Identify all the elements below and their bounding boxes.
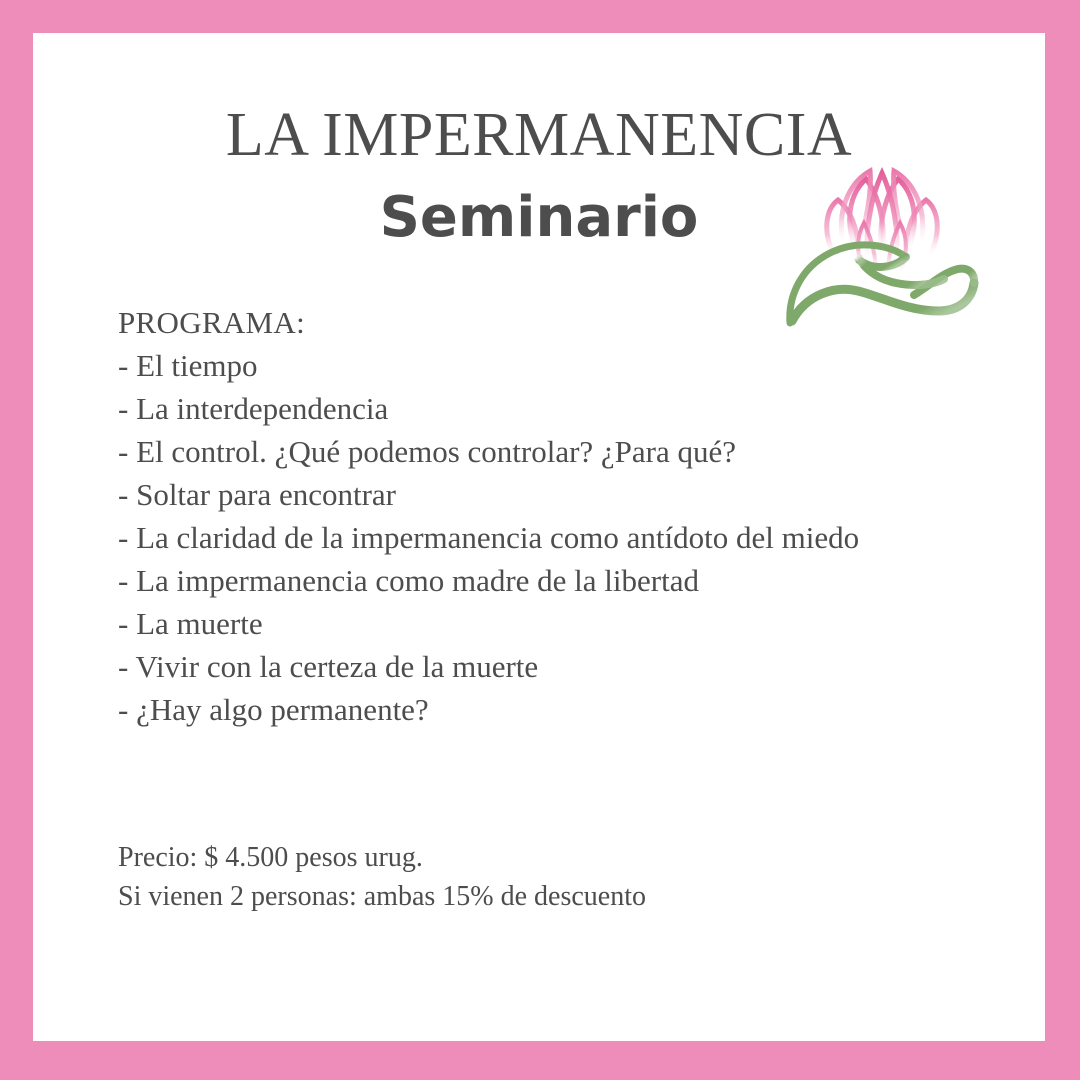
- list-item: - El control. ¿Qué podemos controlar? ¿P…: [118, 430, 1038, 473]
- list-item: - El tiempo: [118, 344, 1038, 387]
- list-item: - La muerte: [118, 602, 1038, 645]
- list-item: - Soltar para encontrar: [118, 473, 1038, 516]
- poster-canvas: LA IMPERMANENCIA Seminario: [33, 33, 1045, 1041]
- list-item: - Vivir con la certeza de la muerte: [118, 645, 1038, 688]
- list-item: - La impermanencia como madre de la libe…: [118, 559, 1038, 602]
- list-item: - ¿Hay algo permanente?: [118, 688, 1038, 731]
- list-item: - La interdependencia: [118, 387, 1038, 430]
- poster-frame: LA IMPERMANENCIA Seminario: [0, 0, 1080, 1080]
- program-block: PROGRAMA: - El tiempo - La interdependen…: [118, 301, 1038, 731]
- program-heading: PROGRAMA:: [118, 301, 1038, 344]
- program-list: - El tiempo - La interdependencia - El c…: [118, 344, 1038, 731]
- discount-line: Si vienen 2 personas: ambas 15% de descu…: [118, 877, 1018, 916]
- price-line: Precio: $ 4.500 pesos urug.: [118, 838, 1018, 877]
- pricing-block: Precio: $ 4.500 pesos urug. Si vienen 2 …: [118, 838, 1018, 916]
- list-item: - La claridad de la impermanencia como a…: [118, 516, 1038, 559]
